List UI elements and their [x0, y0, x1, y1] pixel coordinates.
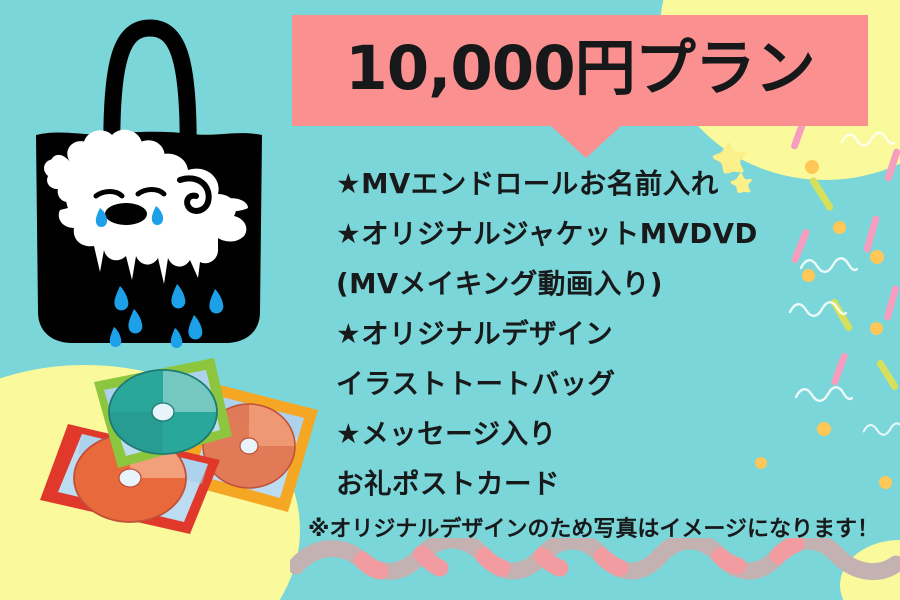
- plan-feature-list: ★MVエンドロールお名前入れ★オリジナルジャケットMVDVD(MVメイキング動画…: [336, 159, 876, 509]
- pink-ribbon-wave: [290, 538, 900, 592]
- plan-title: 10,000円プラン: [345, 38, 814, 103]
- feature-line: ★オリジナルジャケットMVDVD: [336, 209, 876, 259]
- tote-bag-illustration: [22, 12, 282, 361]
- confetti-dot: [879, 476, 892, 489]
- cd-cases-illustration: [8, 352, 323, 541]
- poster-canvas: 10,000円プラン ★MVエンドロールお名前入れ★オリジナルジャケットMVDV…: [0, 0, 900, 600]
- feature-line: (MVメイキング動画入り): [336, 259, 876, 309]
- feature-line: イラストトートバッグ: [336, 359, 876, 409]
- feature-line: ★MVエンドロールお名前入れ: [336, 159, 876, 209]
- confetti-dash: [876, 359, 900, 392]
- feature-line: ★オリジナルデザイン: [336, 309, 876, 359]
- feature-line: ★メッセージ入り: [336, 409, 876, 459]
- confetti-dash: [883, 285, 900, 322]
- banner-pointer-tail: [550, 125, 622, 158]
- feature-line: お礼ポストカード: [336, 459, 876, 509]
- price-plan-banner: 10,000円プラン: [292, 15, 868, 126]
- confetti-squiggle: [840, 130, 896, 152]
